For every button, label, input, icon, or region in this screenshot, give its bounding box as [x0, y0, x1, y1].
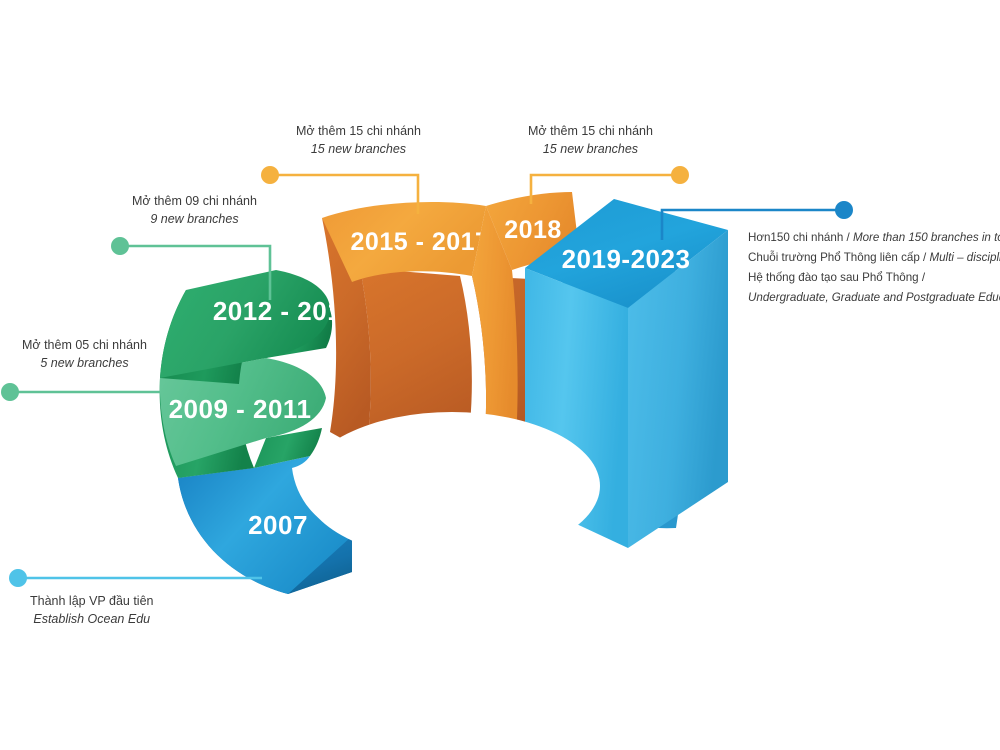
connector-2009-dot[interactable] [1, 383, 19, 401]
summary-line-4-en: Undergraduate, Graduate and Postgraduate… [748, 291, 1000, 304]
callout-2007-en: Establish Ocean Edu [30, 610, 153, 628]
connector-2018-dot[interactable] [671, 166, 689, 184]
connector-2009 [1, 383, 160, 401]
segment-2019-label: 2019-2023 [562, 244, 691, 274]
callout-2009-vi: Mở thêm 05 chi nhánh [22, 336, 147, 354]
connector-summary-dot[interactable] [835, 201, 853, 219]
callout-2009-en: 5 new branches [22, 354, 147, 372]
segment-2018-label: 2018 [504, 216, 562, 244]
callout-2007-vi: Thành lập VP đầu tiên [30, 592, 153, 610]
callout-2012: Mở thêm 09 chi nhánh 9 new branches [132, 192, 257, 228]
segment-2015-label: 2015 - 2017 [351, 228, 490, 256]
connector-2012-dot[interactable] [111, 237, 129, 255]
callout-2007: Thành lập VP đầu tiên Establish Ocean Ed… [30, 592, 153, 628]
summary-line-1-en: More than 150 branches in total [853, 231, 1000, 244]
summary-line-2-vi: Chuỗi trường Phổ Thông liên cấp / [748, 251, 929, 264]
callout-2009: Mở thêm 05 chi nhánh 5 new branches [22, 336, 147, 372]
callout-2015: Mở thêm 15 chi nhánh 15 new branches [296, 122, 421, 158]
callout-2018: Mở thêm 15 chi nhánh 15 new branches [528, 122, 653, 158]
summary-line-3: Hệ thống đào tạo sau Phổ Thông / [748, 268, 998, 288]
callout-2018-en: 15 new branches [528, 140, 653, 158]
callout-2015-vi: Mở thêm 15 chi nhánh [296, 122, 421, 140]
summary-line-3-vi: Hệ thống đào tạo sau Phổ Thông / [748, 271, 925, 284]
summary-line-1: Hơn150 chi nhánh / More than 150 branche… [748, 228, 998, 248]
timeline-donut-chart: 2007 2009 - 2011 2012 - 2014 2015 - 2017 [0, 0, 1000, 750]
callout-2012-en: 9 new branches [132, 210, 257, 228]
summary-line-2-en: Multi – disciplinary [929, 251, 1000, 264]
infographic-canvas: 2007 2009 - 2011 2012 - 2014 2015 - 2017 [0, 0, 1000, 750]
callout-2012-vi: Mở thêm 09 chi nhánh [132, 192, 257, 210]
summary-line-1-vi: Hơn150 chi nhánh / [748, 231, 853, 244]
connector-2015-dot[interactable] [261, 166, 279, 184]
connector-2007 [9, 569, 262, 587]
summary-line-4: Undergraduate, Graduate and Postgraduate… [748, 288, 998, 308]
segment-2009-label: 2009 - 2011 [169, 394, 312, 424]
callout-2015-en: 15 new branches [296, 140, 421, 158]
callout-2018-vi: Mở thêm 15 chi nhánh [528, 122, 653, 140]
summary-annotations: Hơn150 chi nhánh / More than 150 branche… [748, 228, 998, 308]
summary-line-2: Chuỗi trường Phổ Thông liên cấp / Multi … [748, 248, 998, 268]
connector-2007-dot[interactable] [9, 569, 27, 587]
